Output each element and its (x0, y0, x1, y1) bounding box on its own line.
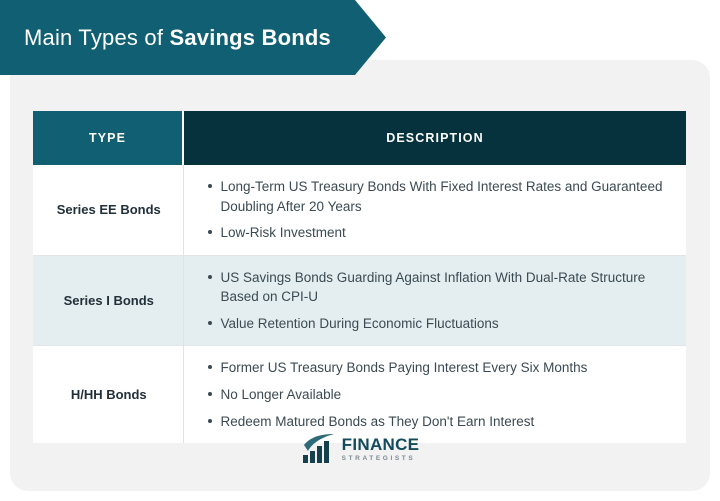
infographic-page: Main Types of Savings Bonds TYPE DESCRIP… (0, 0, 720, 501)
page-title-bold: Savings Bonds (169, 25, 331, 50)
savings-bonds-table: TYPE DESCRIPTION Series EE Bonds Long-Te… (33, 111, 686, 443)
logo-name: FINANCE (342, 436, 420, 453)
cell-bond-type: Series EE Bonds (33, 165, 183, 255)
cell-bond-type: H/HH Bonds (33, 346, 183, 443)
list-item: Redeem Matured Bonds as They Don't Earn … (206, 412, 669, 432)
table-row: H/HH Bonds Former US Treasury Bonds Payi… (33, 346, 686, 443)
list-item: Former US Treasury Bonds Paying Interest… (206, 358, 669, 378)
list-item: No Longer Available (206, 385, 669, 405)
page-title: Main Types of Savings Bonds (0, 27, 331, 49)
list-item: Value Retention During Economic Fluctuat… (206, 314, 669, 334)
bullet-list: US Savings Bonds Guarding Against Inflat… (206, 268, 669, 334)
table-body: Series EE Bonds Long-Term US Treasury Bo… (33, 165, 686, 443)
column-header-type: TYPE (33, 111, 183, 165)
table-row: Series I Bonds US Savings Bonds Guarding… (33, 255, 686, 346)
table-row: Series EE Bonds Long-Term US Treasury Bo… (33, 165, 686, 255)
cell-bond-type: Series I Bonds (33, 255, 183, 346)
bullet-list: Former US Treasury Bonds Paying Interest… (206, 358, 669, 431)
list-item: Long-Term US Treasury Bonds With Fixed I… (206, 177, 669, 216)
cell-bond-description: Former US Treasury Bonds Paying Interest… (183, 346, 686, 443)
list-item: Low-Risk Investment (206, 223, 669, 243)
list-item: US Savings Bonds Guarding Against Inflat… (206, 268, 669, 307)
bullet-list: Long-Term US Treasury Bonds With Fixed I… (206, 177, 669, 243)
bar-chart-swoosh-icon (301, 434, 337, 464)
brand-logo: FINANCE STRATEGISTS (0, 434, 720, 464)
cell-bond-description: Long-Term US Treasury Bonds With Fixed I… (183, 165, 686, 255)
cell-bond-description: US Savings Bonds Guarding Against Inflat… (183, 255, 686, 346)
logo-tagline: STRATEGISTS (342, 456, 420, 463)
page-title-regular: Main Types of (24, 25, 169, 50)
table-header: TYPE DESCRIPTION (33, 111, 686, 165)
column-header-description: DESCRIPTION (183, 111, 686, 165)
table-header-row: TYPE DESCRIPTION (33, 111, 686, 165)
logo-wordmark: FINANCE STRATEGISTS (342, 436, 420, 463)
title-banner: Main Types of Savings Bonds (0, 0, 386, 75)
